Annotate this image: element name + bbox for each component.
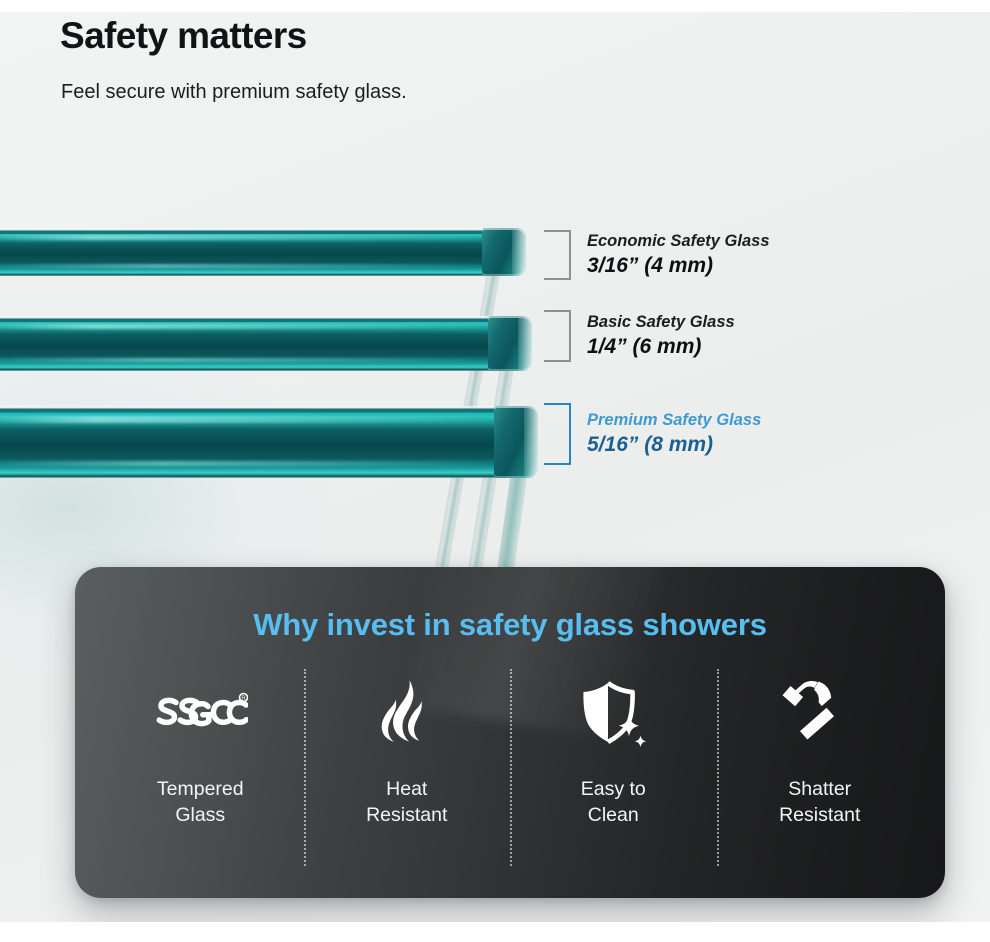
benefits-card: Why invest in safety glass showers R (75, 567, 945, 898)
basic-glass-slab (0, 316, 531, 371)
shield-sparkle-icon (576, 675, 650, 755)
callout-size-label: 1/4” (6 mm) (587, 334, 735, 360)
bracket-icon (544, 310, 571, 362)
svg-text:R: R (242, 696, 247, 702)
feature-label-line1: Heat (366, 777, 447, 803)
top-white-strip (0, 0, 990, 12)
feature-label-line2: Clean (581, 803, 646, 829)
economic-glass-slab (0, 228, 525, 276)
bracket-icon (544, 403, 571, 465)
feature-label: Shatter Resistant (779, 777, 860, 828)
feature-label-line1: Easy to (581, 777, 646, 803)
header: Safety matters Feel secure with premium … (60, 16, 760, 104)
premium-glass-slab (0, 406, 537, 478)
callout-kind-label: Economic Safety Glass (587, 231, 770, 252)
hammer-icon (781, 675, 859, 755)
callout-premium: Premium Safety Glass 5/16” (8 mm) (544, 403, 761, 465)
feature-heat-resistant: Heat Resistant (304, 675, 511, 860)
feature-label-line2: Glass (157, 803, 244, 829)
sgcc-certification-icon: R (152, 675, 248, 755)
feature-label-line2: Resistant (366, 803, 447, 829)
flame-icon (379, 675, 435, 755)
callout-size-label: 5/16” (8 mm) (587, 432, 761, 458)
feature-label: Easy to Clean (581, 777, 646, 828)
callout-kind-label: Basic Safety Glass (587, 312, 735, 333)
page-title: Safety matters (60, 16, 760, 56)
feature-label: Heat Resistant (366, 777, 447, 828)
safety-glass-infographic: Safety matters Feel secure with premium … (0, 0, 990, 942)
feature-label-line1: Tempered (157, 777, 244, 803)
benefits-card-title: Why invest in safety glass showers (75, 607, 945, 643)
feature-shatter-resistant: Shatter Resistant (717, 675, 924, 860)
feature-label-line2: Resistant (779, 803, 860, 829)
feature-label-line1: Shatter (779, 777, 860, 803)
callout-economic: Economic Safety Glass 3/16” (4 mm) (544, 230, 770, 280)
callout-basic: Basic Safety Glass 1/4” (6 mm) (544, 310, 735, 362)
bracket-icon (544, 230, 571, 280)
callout-kind-label: Premium Safety Glass (587, 410, 761, 431)
feature-label: Tempered Glass (157, 777, 244, 828)
callout-size-label: 3/16” (4 mm) (587, 253, 770, 279)
bottom-white-strip (0, 922, 990, 942)
glass-slabs-illustration (0, 150, 590, 620)
feature-tempered-glass: R Tempered Glass (97, 675, 304, 860)
page-subtitle: Feel secure with premium safety glass. (61, 80, 760, 104)
feature-easy-to-clean: Easy to Clean (510, 675, 717, 860)
benefits-feature-list: R Tempered Glass Heat (97, 675, 923, 860)
